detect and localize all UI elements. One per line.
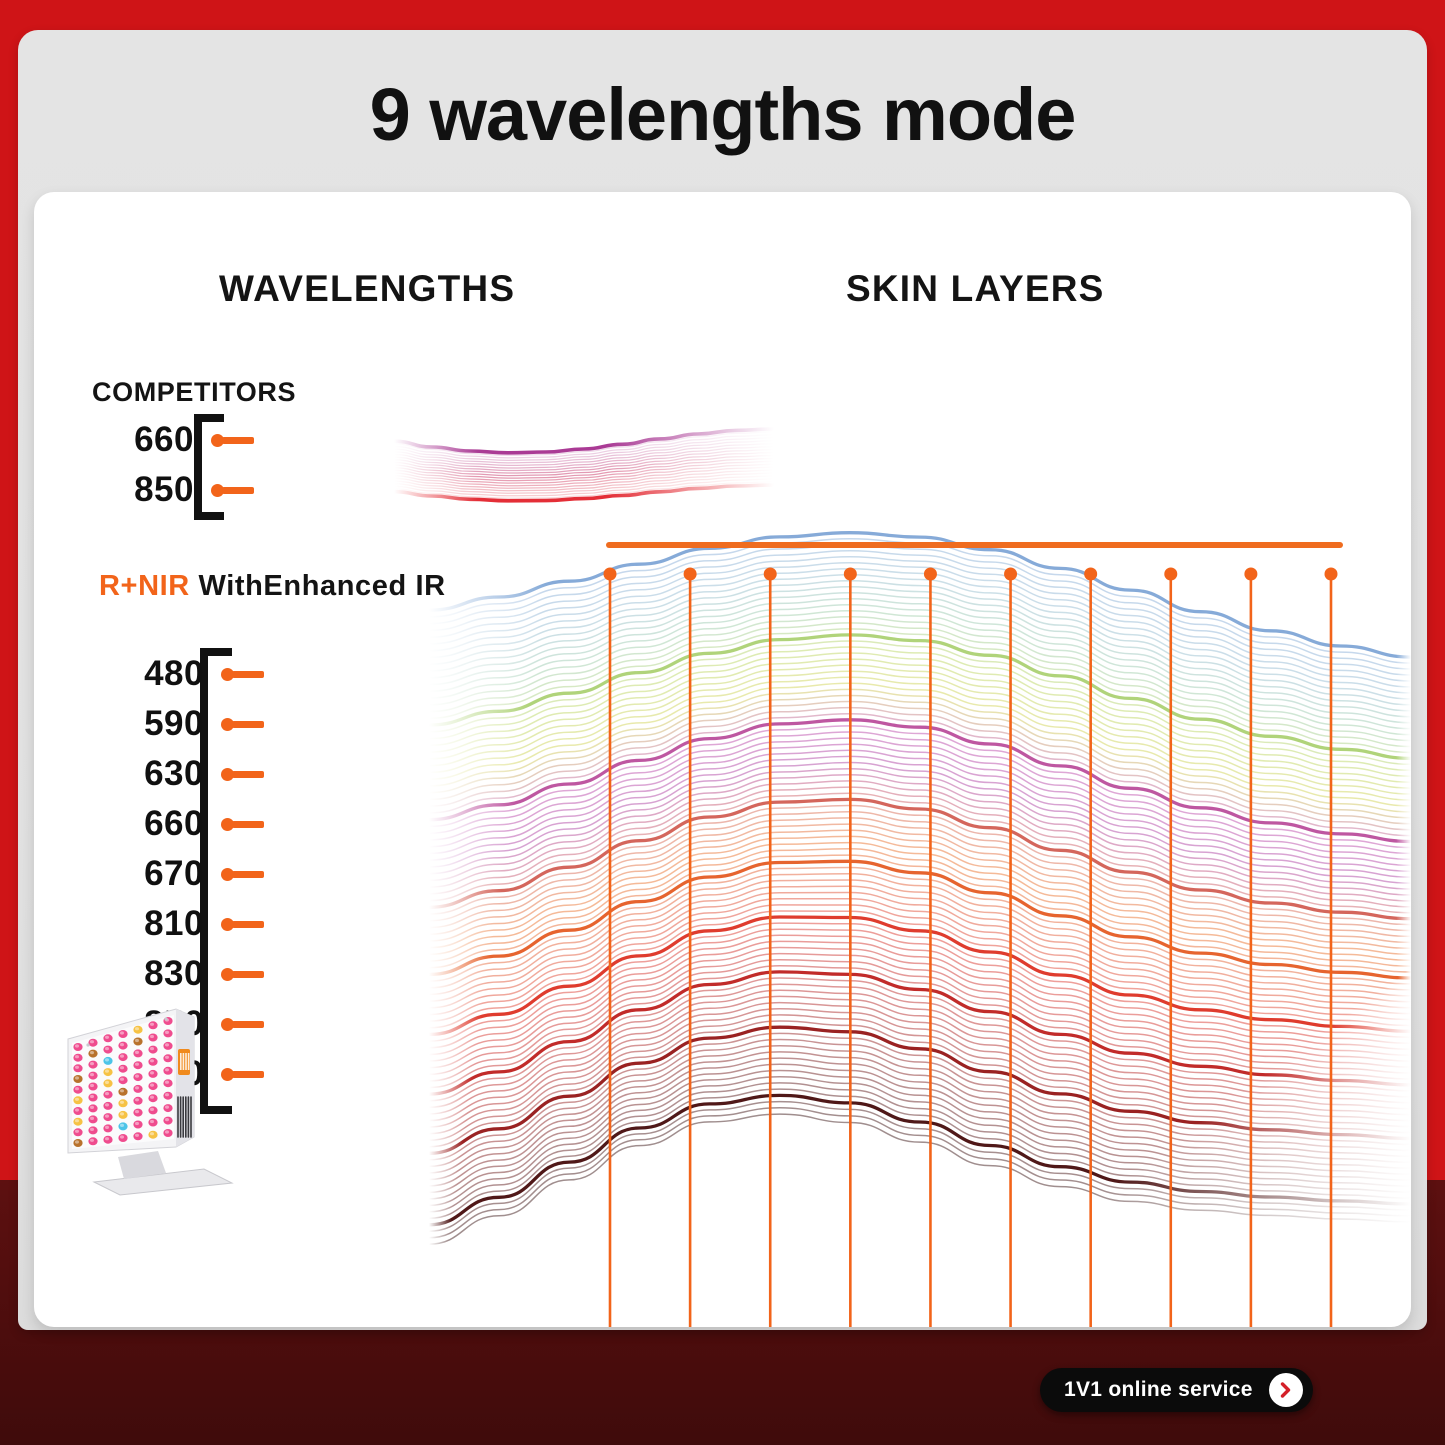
page-title: 9 wavelengths mode: [0, 72, 1445, 157]
online-service-label: 1V1 online service: [1064, 1378, 1253, 1402]
device-illustration: [54, 987, 244, 1202]
online-service-button[interactable]: 1V1 online service: [1040, 1368, 1313, 1412]
chart-card: WAVELENGTHS SKIN LAYERS COMPETITORS 660 …: [34, 192, 1411, 1327]
chevron-right-icon[interactable]: [1269, 1373, 1303, 1407]
infographic-root: 9 wavelengths mode WAVELENGTHS SKIN LAYE…: [0, 0, 1445, 1445]
